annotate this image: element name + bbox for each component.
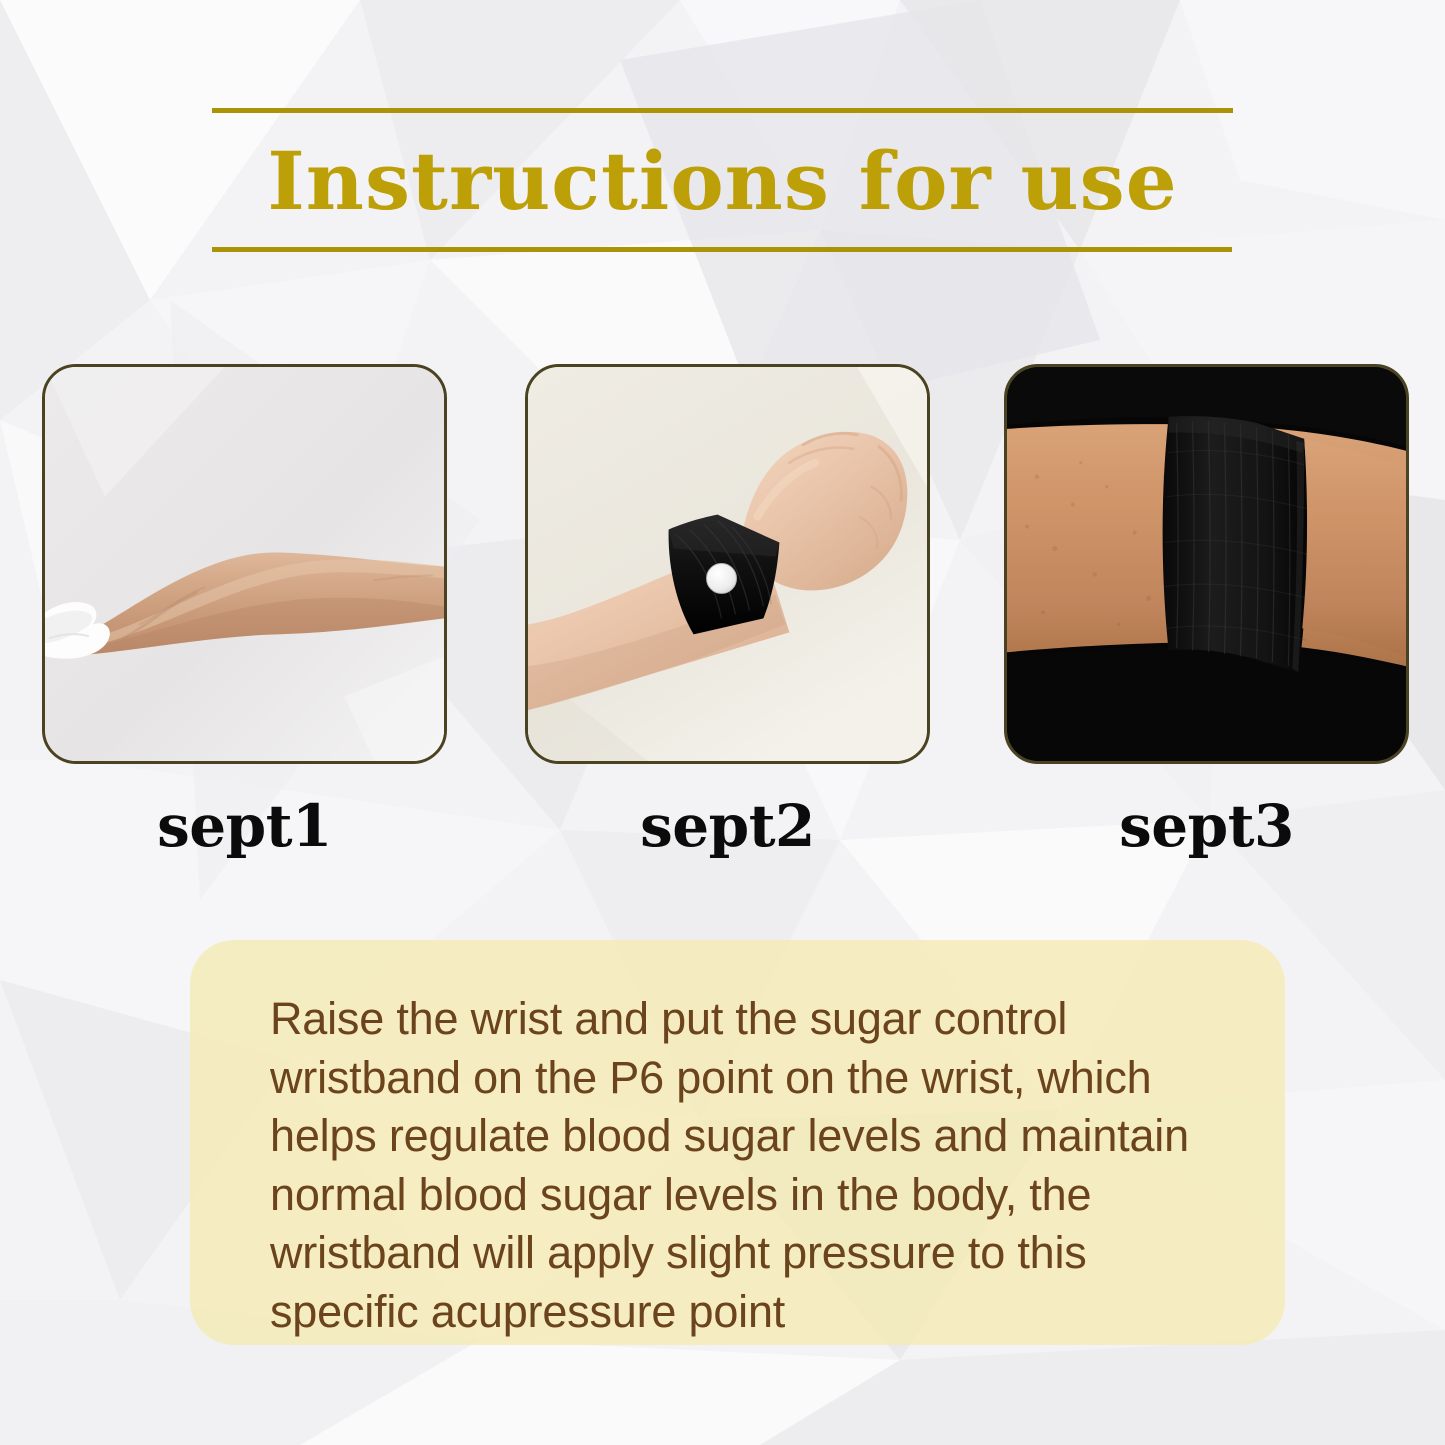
description-panel: Raise the wrist and put the sugar contro…: [190, 940, 1285, 1345]
page-title: Instructions for use: [212, 113, 1233, 247]
step-caption-2: sept2: [525, 797, 930, 855]
page-header: Instructions for use: [212, 108, 1233, 252]
step-image-card-2[interactable]: [525, 364, 930, 764]
title-rule-bottom: [212, 247, 1232, 252]
step-caption-1: sept1: [42, 797, 447, 855]
step-item-1: sept1: [42, 364, 447, 855]
arm-plain-illustration: [45, 367, 444, 761]
step-item-3: sept3: [1004, 364, 1409, 855]
description-text: Raise the wrist and put the sugar contro…: [270, 990, 1237, 1341]
step-item-2: sept2: [525, 364, 930, 855]
step-image-card-1[interactable]: [42, 364, 447, 764]
wristband-on-fist-illustration: [528, 367, 927, 761]
steps-row: sept1: [0, 364, 1445, 864]
step-caption-3: sept3: [1004, 797, 1409, 855]
wristband-closeup-illustration: [1007, 367, 1406, 761]
step-image-card-3[interactable]: [1004, 364, 1409, 764]
